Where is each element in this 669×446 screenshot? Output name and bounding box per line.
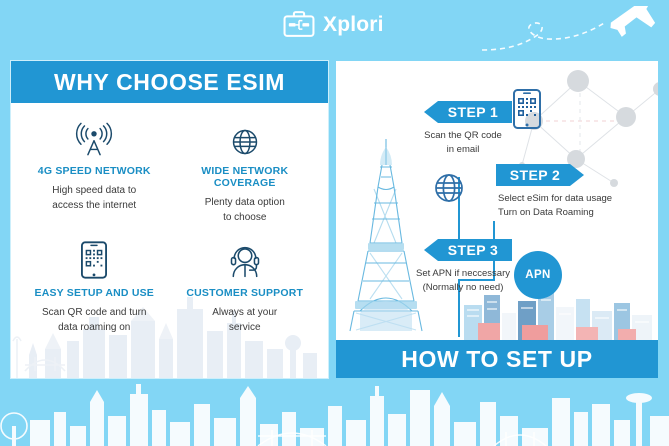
feature-desc-line2: service — [229, 322, 261, 333]
eiffel-tower-icon — [344, 133, 428, 333]
step-1: STEP 1 Scan the QR code in email — [424, 101, 512, 158]
brand-name: Xplori — [323, 14, 384, 35]
globe-icon — [432, 171, 466, 205]
step-2-badge: STEP 2 — [496, 164, 584, 186]
feature-desc-line1: Scan QR code and turn — [42, 307, 147, 318]
step-1-desc-line2: in email — [447, 144, 480, 155]
step-1-badge: STEP 1 — [424, 101, 512, 123]
briefcase-network-icon — [282, 9, 316, 39]
step-3-badge: STEP 3 — [424, 239, 512, 261]
step-2: STEP 2 Select eSim for data usage Turn o… — [496, 164, 653, 221]
airplane-icon — [478, 6, 658, 54]
step-2-desc-line2: Turn on Data Roaming — [498, 207, 594, 218]
step-3: STEP 3 Set APN if neccessary (Normally n… — [424, 239, 519, 296]
top-bar: Xplori — [0, 0, 669, 56]
headset-support-icon — [227, 239, 263, 279]
feature-row-1: 4G SPEED NETWORK High speed data to acce… — [19, 117, 320, 225]
signal-tower-icon — [74, 117, 114, 157]
step-1-desc-line1: Scan the QR code — [424, 130, 502, 141]
apn-badge-label: APN — [525, 269, 550, 281]
feature-desc-line2: access the internet — [52, 200, 136, 211]
apn-badge-icon: APN — [514, 251, 562, 299]
feature-wide-network-coverage: WIDE NETWORK COVERAGE Plenty data option… — [170, 117, 321, 225]
right-panel-title: HOW TO SET UP — [401, 346, 592, 373]
feature-desc-line2: to choose — [223, 212, 266, 223]
step-2-label: STEP 2 — [510, 167, 560, 183]
feature-grid: 4G SPEED NETWORK High speed data to acce… — [11, 103, 328, 335]
step-3-desc-line1: Set APN if neccessary — [416, 268, 510, 279]
step-3-label: STEP 3 — [448, 242, 498, 258]
how-to-set-up-panel: STEP 1 Scan the QR code in email — [336, 61, 658, 378]
right-panel-footer: HOW TO SET UP — [336, 340, 658, 378]
globe-icon — [230, 117, 260, 157]
feature-title: CUSTOMER SUPPORT — [186, 287, 303, 299]
feature-desc-line1: High speed data to — [52, 185, 136, 196]
feature-row-2: EASY SETUP AND USE Scan QR code and turn… — [19, 239, 320, 335]
feature-title: EASY SETUP AND USE — [34, 287, 154, 299]
feature-customer-support: CUSTOMER SUPPORT Always at your service — [170, 239, 321, 335]
step-3-desc-line2: (Normally no need) — [423, 282, 504, 293]
left-panel-title: WHY CHOOSE ESIM — [54, 69, 285, 96]
feature-easy-setup-and-use: EASY SETUP AND USE Scan QR code and turn… — [19, 239, 170, 335]
step-2-desc-line1: Select eSim for data usage — [498, 193, 612, 204]
feature-desc-line2: data roaming on — [58, 322, 130, 333]
step-1-label: STEP 1 — [448, 104, 498, 120]
left-panel-header: WHY CHOOSE ESIM — [11, 61, 328, 103]
brand-logo: Xplori — [282, 9, 384, 39]
phone-qr-icon — [512, 89, 542, 129]
feature-title: WIDE NETWORK COVERAGE — [170, 165, 321, 189]
feature-desc-line1: Plenty data option — [205, 197, 285, 208]
city-skyline-icon — [0, 376, 669, 446]
phone-qr-icon — [81, 239, 107, 279]
why-choose-esim-panel: WHY CHOOSE ESIM — [11, 61, 328, 378]
feature-title: 4G SPEED NETWORK — [38, 165, 151, 177]
feature-desc-line1: Always at your — [212, 307, 277, 318]
feature-4g-speed-network: 4G SPEED NETWORK High speed data to acce… — [19, 117, 170, 225]
poster-canvas: Xplori WHY CHOOSE ESIM — [0, 0, 669, 446]
